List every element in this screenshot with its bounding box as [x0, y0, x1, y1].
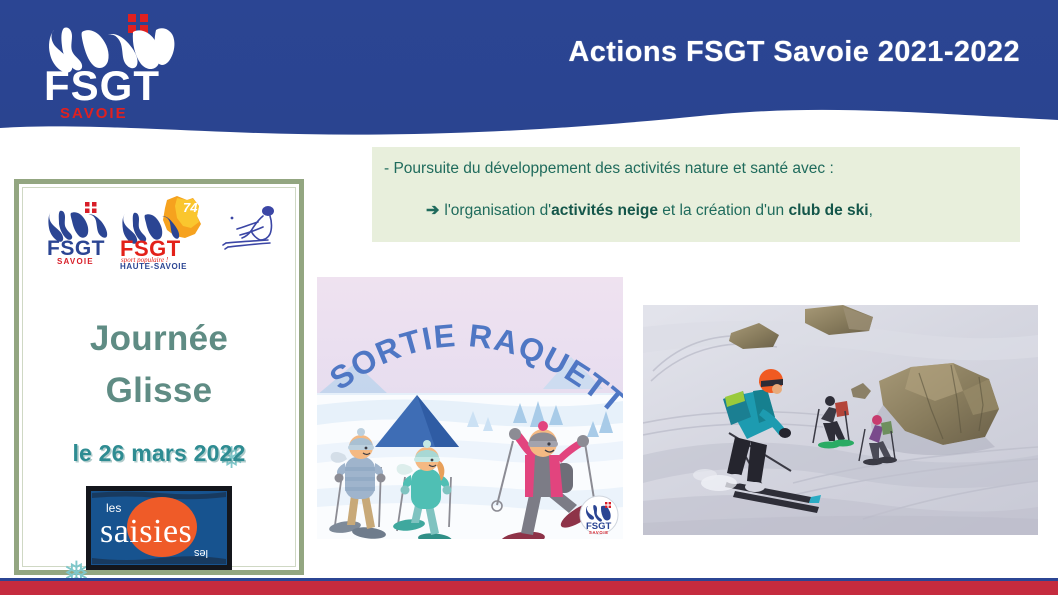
poster-title-line-2: Glisse [23, 365, 295, 417]
les-saisies-logo: les saisies les [86, 486, 232, 570]
badge-subtitle: SAVOIE [589, 530, 609, 535]
sortie-raquette-illustration: SORTIE RAQUETTE [317, 277, 623, 539]
les-saisies-main-text: saisies [100, 513, 192, 550]
callout-bold-activites-neige: activités neige [551, 202, 658, 219]
callout-text-part2: et la création d'un [658, 202, 789, 219]
poster-inner-frame: FSGT SAVOIE 74 [22, 187, 296, 567]
logo-wordmark: FSGT [44, 62, 160, 109]
les-saisies-small-text-inverted: les [193, 547, 208, 559]
logo-subtitle: SAVOIE [60, 105, 128, 122]
poster-title: Journée Glisse [23, 313, 295, 417]
logo-subtitle: HAUTE-SAVOIE [120, 262, 187, 270]
department-number: 74 [183, 200, 198, 215]
spray-dot-icon [231, 217, 234, 220]
journee-glisse-poster: FSGT SAVOIE 74 [14, 179, 304, 575]
arrow-icon: ➔ [426, 202, 439, 219]
page-title: Actions FSGT Savoie 2021-2022 [568, 36, 1020, 69]
fsgt-badge-icon: FSGT SAVOIE [580, 496, 618, 535]
fsgt-savoie-logo: FSGT SAVOIE [41, 200, 115, 266]
fsgt-haute-savoie-logo: 74 FSGT sport populaire ! HAUTE-SAVOIE [115, 194, 215, 270]
callout-line-1: - Poursuite du développement des activit… [384, 159, 1010, 179]
poster-logo-row: FSGT SAVOIE 74 [23, 194, 295, 272]
callout-text-part3: , [869, 202, 873, 219]
poster-title-line-1: Journée [23, 313, 295, 365]
skier-icon [218, 202, 288, 256]
logo-red-squares [128, 14, 148, 33]
callout-box: - Poursuite du développement des activit… [372, 147, 1020, 242]
logo-subtitle: SAVOIE [57, 257, 94, 266]
fsgt-savoie-logo: FSGT SAVOIE [22, 8, 192, 123]
ski-touring-photo [643, 305, 1038, 535]
logo-red-squares [85, 202, 97, 213]
callout-line-2: ➔l'organisation d'activités neige et la … [384, 201, 1010, 221]
poster-date: le 26 mars 2022 [23, 440, 295, 467]
footer-red-bar [0, 581, 1058, 595]
callout-bold-club-de-ski: club de ski [788, 202, 868, 219]
callout-text-part1: l'organisation d' [444, 202, 551, 219]
